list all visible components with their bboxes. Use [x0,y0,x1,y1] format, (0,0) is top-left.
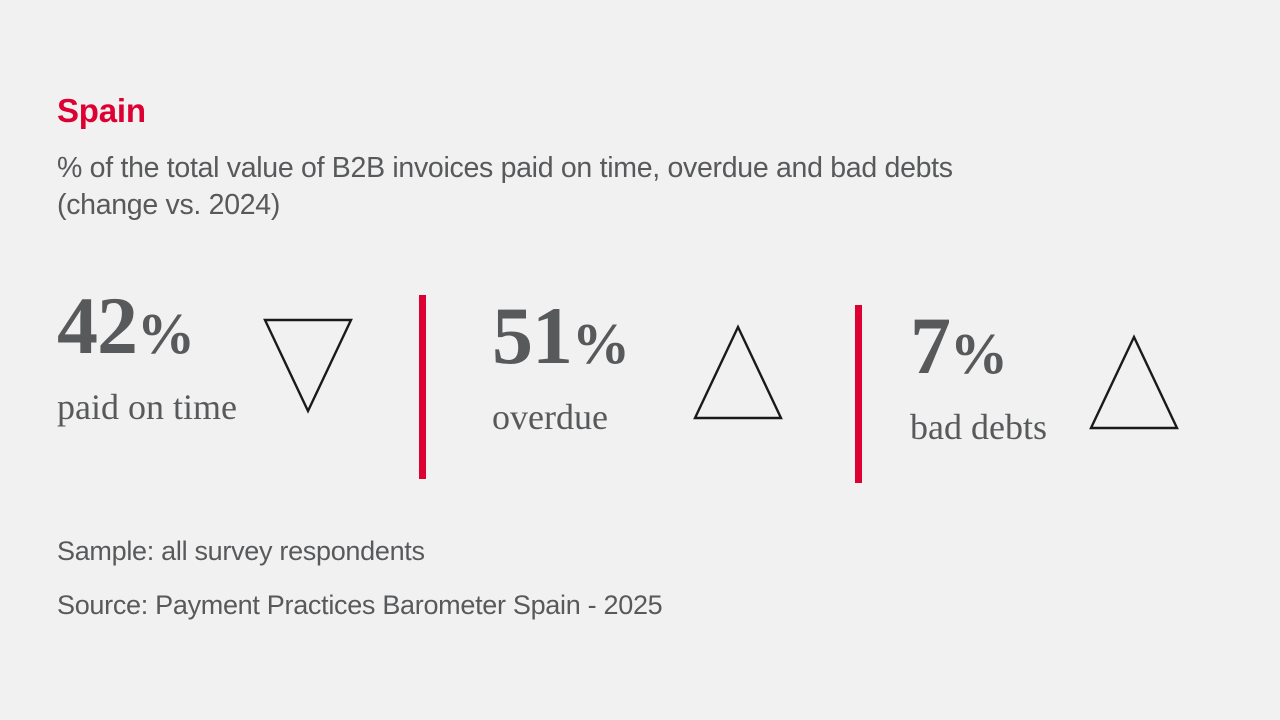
stat-label: bad debts [910,409,1047,445]
stat-value: 51% [492,295,629,377]
triangle-up-icon [1088,333,1180,433]
percent-sign: % [950,321,1007,386]
stat-label: paid on time [57,389,237,425]
subtitle-line-1: % of the total value of B2B invoices pai… [57,152,953,184]
percent-sign: % [137,301,194,366]
infographic-canvas: Spain % of the total value of B2B invoic… [0,0,1280,720]
page-title: Spain [57,94,146,127]
triangle-up-icon [692,323,784,423]
stat-value: 7% [910,305,1047,387]
stat-label: overdue [492,399,629,435]
percent-sign: % [572,311,629,376]
stat-block-bad-debts: 7% bad debts [910,285,1200,495]
stat-number: 42 [57,280,137,371]
stat-number: 51 [492,290,572,381]
stat-text-group: 51% overdue [492,295,629,435]
stat-value: 42% [57,285,237,367]
footer-notes: Sample: all survey respondents Source: P… [57,538,662,619]
stat-text-group: 7% bad debts [910,305,1047,445]
divider-bar-2 [855,305,862,483]
stats-row: 42% paid on time 51% overdue [0,285,1280,495]
sample-note: Sample: all survey respondents [57,538,662,565]
subtitle-line-2: (change vs. 2024) [57,187,1217,224]
stat-number: 7 [910,300,950,391]
triangle-down-icon [262,315,354,415]
stat-text-group: 42% paid on time [57,285,237,425]
stat-block-overdue: 51% overdue [492,285,792,495]
stat-block-paid-on-time: 42% paid on time [57,285,357,495]
divider-bar-1 [419,295,426,479]
source-note: Source: Payment Practices Barometer Spai… [57,592,662,619]
subtitle: % of the total value of B2B invoices pai… [57,150,1217,224]
